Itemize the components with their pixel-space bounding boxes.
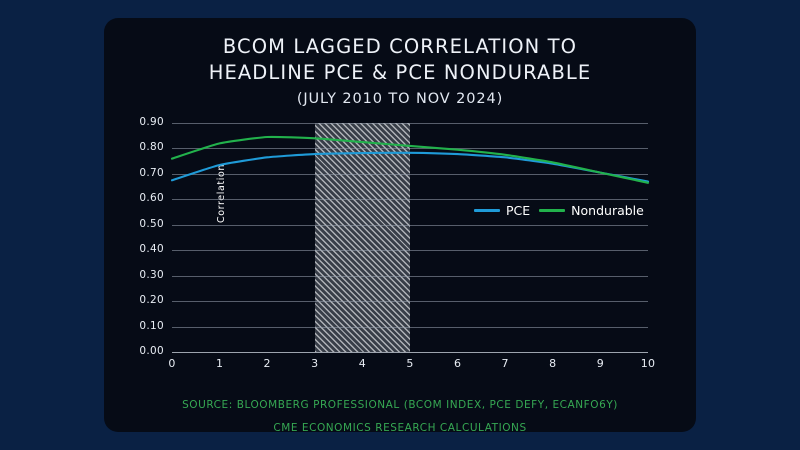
- x-tick-label: 5: [390, 357, 430, 370]
- y-tick-label: 0.20: [120, 294, 164, 306]
- legend-item-nondurable[interactable]: Nondurable: [539, 203, 644, 218]
- x-tick-label: 6: [438, 357, 478, 370]
- legend-swatch-nondurable: [539, 209, 565, 212]
- y-tick-label: 0.40: [120, 243, 164, 255]
- y-tick-label: 0.30: [120, 269, 164, 281]
- source-line-2: CME ECONOMICS RESEARCH CALCULATIONS: [104, 417, 696, 432]
- chart-title-line-2: HEADLINE PCE & PCE NONDURABLE: [104, 60, 696, 86]
- x-axis-line: [172, 352, 648, 353]
- y-tick-label: 0.70: [120, 167, 164, 179]
- x-tick-label: 1: [200, 357, 240, 370]
- x-tick-label: 10: [628, 357, 668, 370]
- x-tick-label: 4: [342, 357, 382, 370]
- y-tick-label: 0.60: [120, 192, 164, 204]
- x-tick-label: 2: [247, 357, 287, 370]
- x-tick-label: 8: [533, 357, 573, 370]
- x-tick-label: 7: [485, 357, 525, 370]
- legend-label: PCE: [506, 203, 530, 218]
- y-tick-label: 0.80: [120, 141, 164, 153]
- plot-area: 0.000.100.200.300.400.500.600.700.800.90…: [172, 123, 648, 352]
- y-tick-label: 0.90: [120, 116, 164, 128]
- chart-title-block: BCOM LAGGED CORRELATION TO HEADLINE PCE …: [104, 34, 696, 111]
- x-tick-label: 3: [295, 357, 335, 370]
- chart-subtitle: (JULY 2010 TO NOV 2024): [104, 87, 696, 111]
- y-tick-label: 0.10: [120, 320, 164, 332]
- source-line-1: SOURCE: BLOOMBERG PROFESSIONAL (BCOM IND…: [104, 394, 696, 417]
- chart-card: BCOM LAGGED CORRELATION TO HEADLINE PCE …: [104, 18, 696, 432]
- source-block: SOURCE: BLOOMBERG PROFESSIONAL (BCOM IND…: [104, 394, 696, 432]
- legend-item-pce[interactable]: PCE: [474, 203, 530, 218]
- chart-screenshot: BCOM LAGGED CORRELATION TO HEADLINE PCE …: [0, 0, 800, 450]
- x-tick-label: 9: [580, 357, 620, 370]
- y-tick-label: 0.50: [120, 218, 164, 230]
- legend-label: Nondurable: [571, 203, 644, 218]
- y-tick-label: 0.00: [120, 345, 164, 357]
- chart-legend: PCENondurable: [474, 203, 644, 218]
- legend-swatch-pce: [474, 209, 500, 212]
- chart-title-line-1: BCOM LAGGED CORRELATION TO: [104, 34, 696, 60]
- series-layer: [172, 123, 648, 352]
- x-tick-label: 0: [152, 357, 192, 370]
